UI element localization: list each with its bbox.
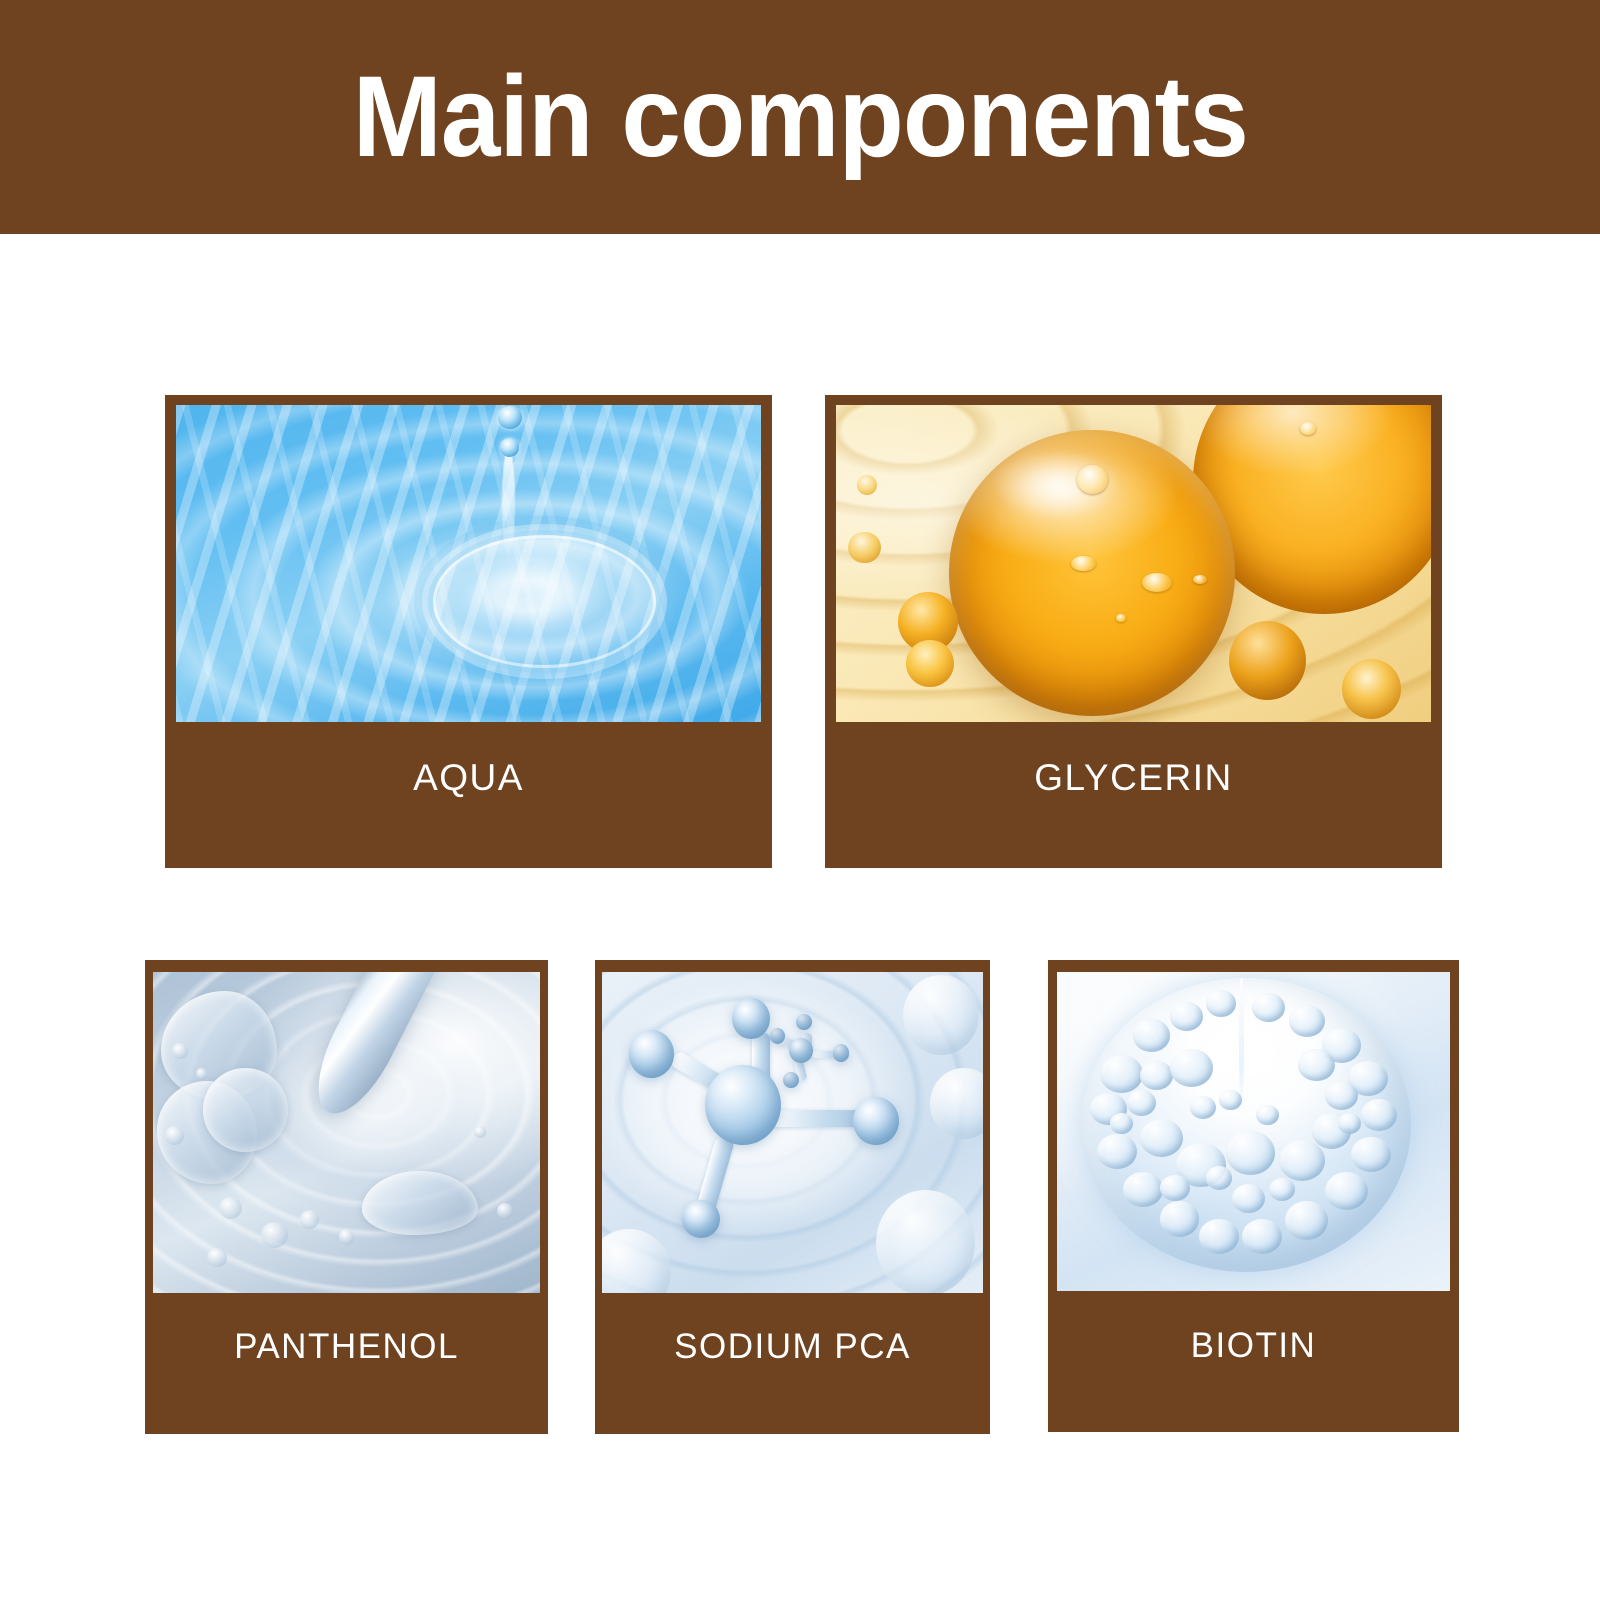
molecule-atom-center-icon (705, 1065, 781, 1145)
component-card-aqua[interactable]: AQUA (165, 395, 772, 868)
bubble-sphere-icon (1081, 978, 1411, 1271)
oil-bubble-3-icon (1229, 621, 1306, 700)
gel-blob-3-icon (203, 1068, 288, 1151)
sphere-bubble (1338, 1113, 1361, 1134)
gel-dot-8-icon (207, 1248, 226, 1267)
sphere-bubble (1190, 1096, 1216, 1119)
sphere-bubble (1206, 1166, 1232, 1189)
sphere-bubble (1127, 1090, 1157, 1116)
oil-micro-bubble-c-icon (1142, 573, 1172, 592)
molecule-mini-atom-d-icon (783, 1072, 799, 1089)
sphere-bubble (1361, 1099, 1397, 1131)
sphere-bubble (1289, 1005, 1325, 1037)
card-label-panthenol: PANTHENOL (145, 1327, 548, 1367)
sphere-bubble (1226, 1131, 1276, 1175)
sphere-bubble (1351, 1137, 1391, 1172)
component-card-biotin[interactable]: BIOTIN (1048, 960, 1459, 1432)
header-banner: Main components (0, 0, 1600, 234)
water-crater-icon (433, 535, 655, 668)
card-label-glycerin: GLYCERIN (825, 757, 1442, 799)
card-label-biotin: BIOTIN (1048, 1326, 1459, 1366)
sphere-bubble (1160, 1201, 1200, 1236)
component-card-glycerin[interactable]: GLYCERIN (825, 395, 1442, 868)
molecule-mini-atom-c-icon (833, 1044, 850, 1062)
gel-dot-6-icon (300, 1210, 319, 1229)
gel-dot-4-icon (219, 1197, 242, 1219)
sphere-bubble (1140, 1119, 1183, 1157)
sphere-bubble (1279, 1140, 1325, 1181)
sphere-bubble (1256, 1105, 1279, 1126)
sphere-bubble (1170, 1002, 1203, 1031)
component-card-sodium-pca[interactable]: SODIUM PCA (595, 960, 990, 1434)
card-label-sodium-pca: SODIUM PCA (595, 1327, 990, 1367)
sphere-bubble (1325, 1081, 1358, 1110)
sphere-bubble (1100, 1055, 1143, 1093)
pca-bubble-1-icon (903, 975, 979, 1055)
sphere-bubble (1269, 1178, 1295, 1201)
sphere-bubble (1160, 1175, 1190, 1201)
component-card-panthenol[interactable]: PANTHENOL (145, 960, 548, 1434)
gel-dot-1-icon (172, 1043, 187, 1059)
oil-micro-bubble-f-icon (1300, 422, 1315, 435)
card-label-aqua: AQUA (165, 757, 772, 799)
main-components-page: Main components AQUA (0, 0, 1600, 1600)
sphere-bubble (1199, 1219, 1239, 1254)
water-stream-icon (1239, 978, 1244, 1107)
sphere-bubble (1170, 1049, 1213, 1087)
sphere-bubble (1140, 1061, 1173, 1090)
water-droplet-small-icon (500, 438, 519, 456)
sphere-bubble (1219, 1090, 1242, 1111)
sphere-bubble (1325, 1172, 1368, 1210)
oil-micro-bubble-e-icon (1116, 614, 1127, 622)
water-column-icon (502, 449, 514, 554)
sodium-pca-image (602, 972, 983, 1293)
sphere-bubble (1298, 1049, 1334, 1081)
water-droplet-icon (498, 406, 522, 430)
oil-bubble-5-icon (848, 532, 881, 564)
page-title: Main components (352, 60, 1247, 175)
sphere-bubble (1123, 1172, 1163, 1207)
oil-bubble-4-icon (1342, 659, 1402, 719)
sphere-bubble (1133, 1019, 1169, 1051)
molecule-atom-left-icon (629, 1030, 675, 1078)
gel-dot-10-icon (497, 1203, 512, 1219)
gel-dot-9-icon (474, 1126, 486, 1138)
sphere-bubble (1242, 1219, 1282, 1254)
biotin-image (1057, 972, 1450, 1291)
sphere-bubble (1285, 1201, 1328, 1239)
glycerin-image (836, 405, 1431, 722)
sphere-bubble (1110, 1113, 1133, 1134)
pca-bubble-3-icon (876, 1190, 975, 1293)
aqua-image (176, 405, 761, 722)
oil-bubble-2-icon (906, 640, 954, 688)
sphere-bubble (1206, 990, 1236, 1016)
panthenol-image (153, 972, 540, 1293)
gel-dot-7-icon (339, 1229, 354, 1245)
sphere-bubble (1097, 1134, 1137, 1169)
sphere-bubble (1232, 1184, 1265, 1213)
molecule-atom-top-icon (732, 998, 770, 1040)
oil-micro-bubble-a-icon (1077, 465, 1108, 494)
molecule-mini-atom-a-icon (770, 1028, 785, 1044)
